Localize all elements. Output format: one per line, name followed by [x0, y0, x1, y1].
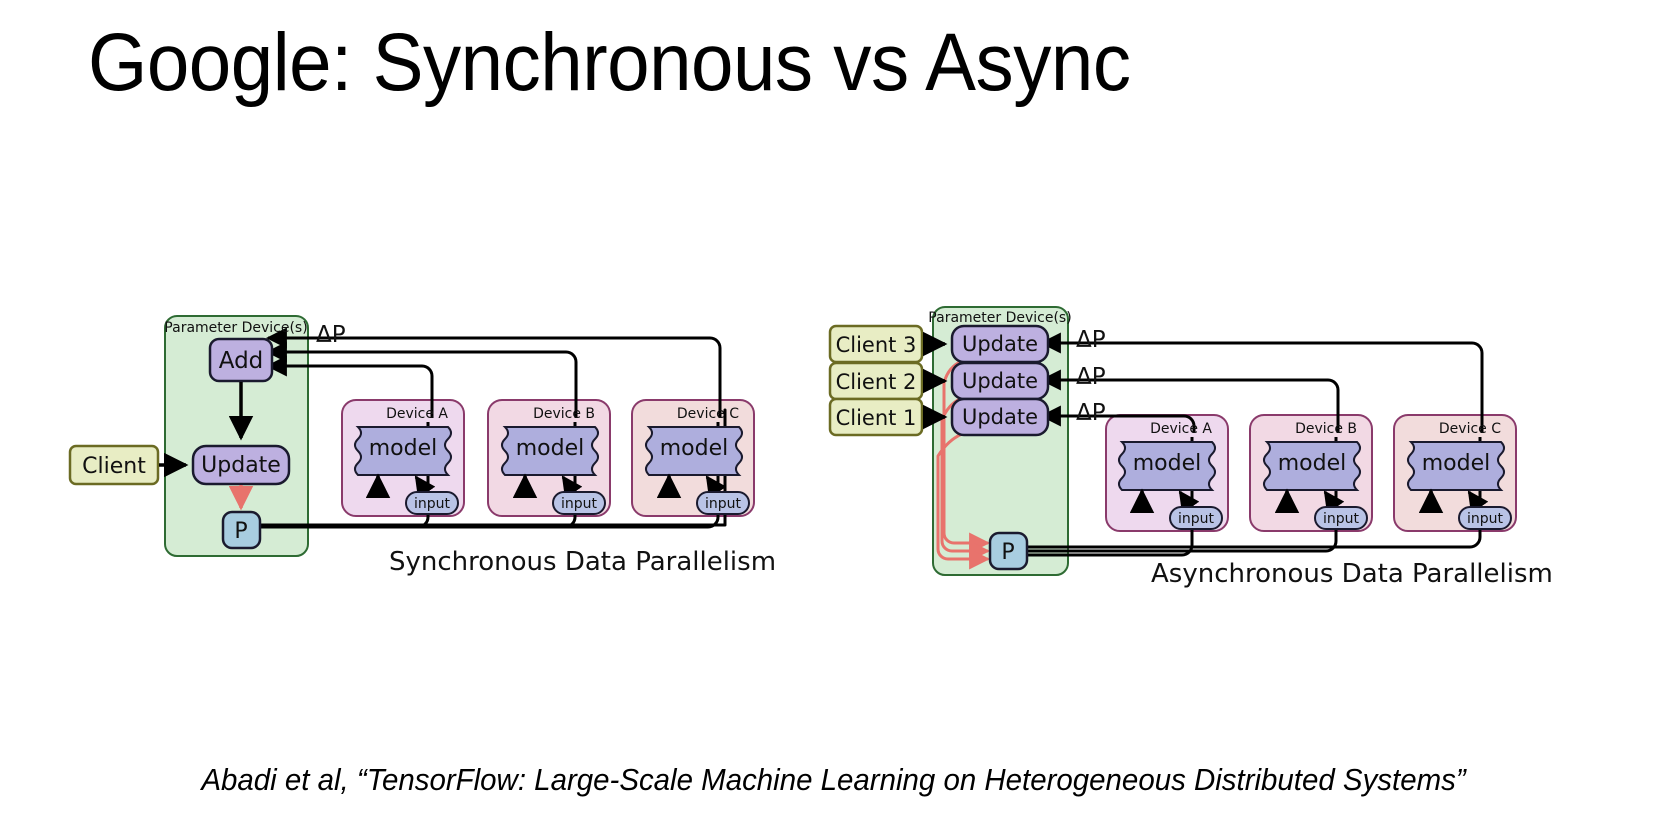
device-a-model-label-sync: model — [369, 436, 438, 461]
update-node-async-3-label: Update — [962, 332, 1038, 356]
client-box-3-label: Client 3 — [836, 333, 917, 357]
citation-text: Abadi et al, “TensorFlow: Large-Scale Ma… — [42, 762, 1626, 798]
add-node-sync[interactable]: Add — [210, 339, 272, 381]
asynchronous-caption: Asynchronous Data Parallelism — [1151, 559, 1553, 589]
update-node-async-1-label: Update — [962, 405, 1038, 429]
delta-p-label-async-2: ΔP — [1076, 364, 1106, 390]
device-c-title-sync: Device C — [677, 406, 739, 422]
device-b-model-label-sync: model — [516, 436, 585, 461]
parameter-node-sync[interactable]: P — [223, 512, 260, 548]
parameter-node-async[interactable]: P — [990, 533, 1027, 569]
device-a-title-async: Device A — [1150, 421, 1212, 437]
device-b-model-label-async: model — [1278, 451, 1347, 476]
client-box-label: Client — [82, 454, 146, 479]
client-box-3[interactable]: Client 3 — [830, 326, 922, 362]
device-b-input-label-sync: input — [561, 496, 598, 512]
device-c-input-label-async: input — [1467, 511, 1504, 527]
device-b-input-label-async: input — [1323, 511, 1360, 527]
device-c-input-label-sync: input — [705, 496, 742, 512]
device-b-title-async: Device B — [1295, 421, 1357, 437]
client-box-2[interactable]: Client 2 — [830, 363, 922, 399]
client-box-sync[interactable]: Client — [70, 446, 158, 484]
device-b-title-sync: Device B — [533, 406, 595, 422]
page-title: Google: Synchronous vs Async — [88, 22, 1130, 104]
client-box-1[interactable]: Client 1 — [830, 399, 922, 435]
device-a-input-label-async: input — [1178, 511, 1215, 527]
device-c-model-label-async: model — [1422, 451, 1491, 476]
update-node-sync[interactable]: Update — [193, 446, 289, 484]
update-node-async-2[interactable]: Update — [952, 363, 1048, 399]
client-box-1-label: Client 1 — [836, 406, 917, 430]
delta-p-label-async-3: ΔP — [1076, 327, 1106, 353]
update-node-label: Update — [201, 453, 281, 478]
update-node-async-2-label: Update — [962, 369, 1038, 393]
parameter-node-async-label: P — [1001, 540, 1014, 565]
parameter-device-label-async: Parameter Device(s) — [928, 310, 1071, 326]
parameter-device-label-sync: Parameter Device(s) — [164, 320, 307, 336]
device-c-model-label-sync: model — [660, 436, 729, 461]
synchronous-data-parallelism-figure: Add Update P Client Param — [60, 300, 780, 560]
update-node-async-3[interactable]: Update — [952, 326, 1048, 362]
synchronous-caption: Synchronous Data Parallelism — [389, 547, 776, 577]
add-node-label: Add — [219, 348, 264, 374]
delta-p-label-async-1: ΔP — [1076, 400, 1106, 426]
device-a-model-label-async: model — [1133, 451, 1202, 476]
device-c-title-async: Device C — [1439, 421, 1501, 437]
asynchronous-data-parallelism-figure: Update Update Update Client 3 Client 2 — [820, 295, 1540, 585]
slide-canvas: Google: Synchronous vs Async — [0, 0, 1667, 824]
client-box-2-label: Client 2 — [836, 370, 917, 394]
delta-p-label-sync: ΔP — [316, 322, 346, 348]
parameter-node-label: P — [234, 519, 247, 544]
update-node-async-1[interactable]: Update — [952, 399, 1048, 435]
device-a-title-sync: Device A — [386, 406, 448, 422]
device-a-input-label-sync: input — [414, 496, 451, 512]
